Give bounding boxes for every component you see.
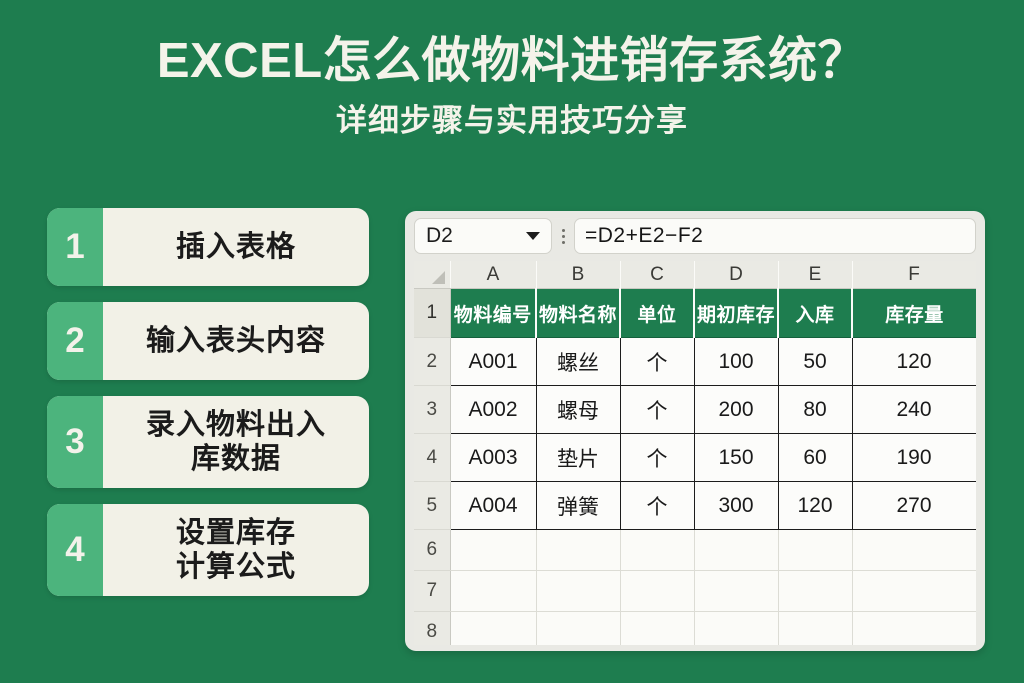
cell-b4[interactable]: 垫片 <box>536 434 620 482</box>
header-cell-d1[interactable]: 期初库存 <box>694 289 778 338</box>
step-card-3[interactable]: 3 录入物料出入 库数据 <box>47 396 369 488</box>
step-label-4: 设置库存 计算公式 <box>103 504 369 596</box>
cell-b8[interactable] <box>536 612 620 646</box>
step-number-4: 4 <box>47 504 103 596</box>
dot <box>562 241 565 244</box>
cell-c8[interactable] <box>620 612 694 646</box>
step-number-2: 2 <box>47 302 103 380</box>
corner-triangle-icon <box>432 271 445 284</box>
steps-list: 1 插入表格 2 输入表头内容 3 录入物料出入 库数据 4 设置库存 计算公式 <box>47 208 369 596</box>
step-label-1: 插入表格 <box>103 208 369 286</box>
cell-f8[interactable] <box>852 612 976 646</box>
cell-a8[interactable] <box>450 612 536 646</box>
cell-f7[interactable] <box>852 571 976 612</box>
table-row-empty: 7 <box>414 571 976 612</box>
cell-f5[interactable]: 270 <box>852 482 976 530</box>
poster-root: EXCEL怎么做物料进销存系统？ 详细步骤与实用技巧分享 1 插入表格 2 输入… <box>0 0 1024 683</box>
header-cell-e1[interactable]: 入库 <box>778 289 852 338</box>
column-header-c[interactable]: C <box>620 261 694 289</box>
cell-f4[interactable]: 190 <box>852 434 976 482</box>
table-header-row: 1 物料编号 物料名称 单位 期初库存 入库 库存量 <box>414 289 976 338</box>
header-cell-c1[interactable]: 单位 <box>620 289 694 338</box>
step-label-2: 输入表头内容 <box>103 302 369 380</box>
cell-f3[interactable]: 240 <box>852 386 976 434</box>
cell-e7[interactable] <box>778 571 852 612</box>
formula-input[interactable]: =D2+E2−F2 <box>574 218 976 254</box>
column-header-e[interactable]: E <box>778 261 852 289</box>
row-header-5[interactable]: 5 <box>414 482 450 530</box>
cell-c3[interactable]: 个 <box>620 386 694 434</box>
cell-b2[interactable]: 螺丝 <box>536 338 620 386</box>
cell-c2[interactable]: 个 <box>620 338 694 386</box>
cell-a4[interactable]: A003 <box>450 434 536 482</box>
name-box-value: D2 <box>426 224 453 248</box>
step-label-3: 录入物料出入 库数据 <box>103 396 369 488</box>
page-title: EXCEL怎么做物料进销存系统？ <box>0 0 1024 89</box>
column-header-row: A B C D E F <box>414 261 976 289</box>
cell-e6[interactable] <box>778 530 852 571</box>
vertical-dots-icon[interactable] <box>552 229 574 244</box>
cell-b6[interactable] <box>536 530 620 571</box>
cell-d6[interactable] <box>694 530 778 571</box>
cell-a5[interactable]: A004 <box>450 482 536 530</box>
cell-a2[interactable]: A001 <box>450 338 536 386</box>
header-cell-a1[interactable]: 物料编号 <box>450 289 536 338</box>
cell-e2[interactable]: 50 <box>778 338 852 386</box>
table-row-empty: 8 <box>414 612 976 646</box>
cell-d5[interactable]: 300 <box>694 482 778 530</box>
cell-a6[interactable] <box>450 530 536 571</box>
row-header-2[interactable]: 2 <box>414 338 450 386</box>
formula-bar-row: D2 =D2+E2−F2 <box>405 211 985 258</box>
table-row: 3 A002 螺母 个 200 80 240 <box>414 386 976 434</box>
formula-value: =D2+E2−F2 <box>585 224 703 248</box>
cell-f2[interactable]: 120 <box>852 338 976 386</box>
cell-c6[interactable] <box>620 530 694 571</box>
name-box[interactable]: D2 <box>414 218 552 254</box>
row-header-7[interactable]: 7 <box>414 571 450 612</box>
cell-d3[interactable]: 200 <box>694 386 778 434</box>
sheet-grid[interactable]: A B C D E F 1 物料编号 物料名称 单位 期初库存 入库 <box>414 261 976 645</box>
column-header-f[interactable]: F <box>852 261 976 289</box>
dot <box>562 229 565 232</box>
table-row-empty: 6 <box>414 530 976 571</box>
cell-c5[interactable]: 个 <box>620 482 694 530</box>
cell-f6[interactable] <box>852 530 976 571</box>
cell-b3[interactable]: 螺母 <box>536 386 620 434</box>
row-header-1[interactable]: 1 <box>414 289 450 338</box>
header-cell-f1[interactable]: 库存量 <box>852 289 976 338</box>
chevron-down-icon[interactable] <box>526 232 540 240</box>
step-card-1[interactable]: 1 插入表格 <box>47 208 369 286</box>
column-header-a[interactable]: A <box>450 261 536 289</box>
cell-d7[interactable] <box>694 571 778 612</box>
cell-c7[interactable] <box>620 571 694 612</box>
cell-a7[interactable] <box>450 571 536 612</box>
header: EXCEL怎么做物料进销存系统？ 详细步骤与实用技巧分享 <box>0 0 1024 185</box>
select-all-corner-icon[interactable] <box>414 261 450 289</box>
cell-e8[interactable] <box>778 612 852 646</box>
header-cell-b1[interactable]: 物料名称 <box>536 289 620 338</box>
table-row: 4 A003 垫片 个 150 60 190 <box>414 434 976 482</box>
sheet-table: A B C D E F 1 物料编号 物料名称 单位 期初库存 入库 <box>414 261 976 645</box>
row-header-8[interactable]: 8 <box>414 612 450 646</box>
column-header-b[interactable]: B <box>536 261 620 289</box>
cell-e3[interactable]: 80 <box>778 386 852 434</box>
cell-a3[interactable]: A002 <box>450 386 536 434</box>
column-header-d[interactable]: D <box>694 261 778 289</box>
table-row: 2 A001 螺丝 个 100 50 120 <box>414 338 976 386</box>
cell-d2[interactable]: 100 <box>694 338 778 386</box>
step-card-2[interactable]: 2 输入表头内容 <box>47 302 369 380</box>
row-header-6[interactable]: 6 <box>414 530 450 571</box>
table-row: 5 A004 弹簧 个 300 120 270 <box>414 482 976 530</box>
step-number-1: 1 <box>47 208 103 286</box>
cell-d4[interactable]: 150 <box>694 434 778 482</box>
row-header-3[interactable]: 3 <box>414 386 450 434</box>
step-card-4[interactable]: 4 设置库存 计算公式 <box>47 504 369 596</box>
cell-e4[interactable]: 60 <box>778 434 852 482</box>
page-subtitle: 详细步骤与实用技巧分享 <box>0 89 1024 139</box>
step-number-3: 3 <box>47 396 103 488</box>
spreadsheet-panel: D2 =D2+E2−F2 <box>405 211 985 651</box>
cell-d8[interactable] <box>694 612 778 646</box>
cell-b5[interactable]: 弹簧 <box>536 482 620 530</box>
cell-c4[interactable]: 个 <box>620 434 694 482</box>
cell-e5[interactable]: 120 <box>778 482 852 530</box>
cell-b7[interactable] <box>536 571 620 612</box>
dot <box>562 235 565 238</box>
row-header-4[interactable]: 4 <box>414 434 450 482</box>
